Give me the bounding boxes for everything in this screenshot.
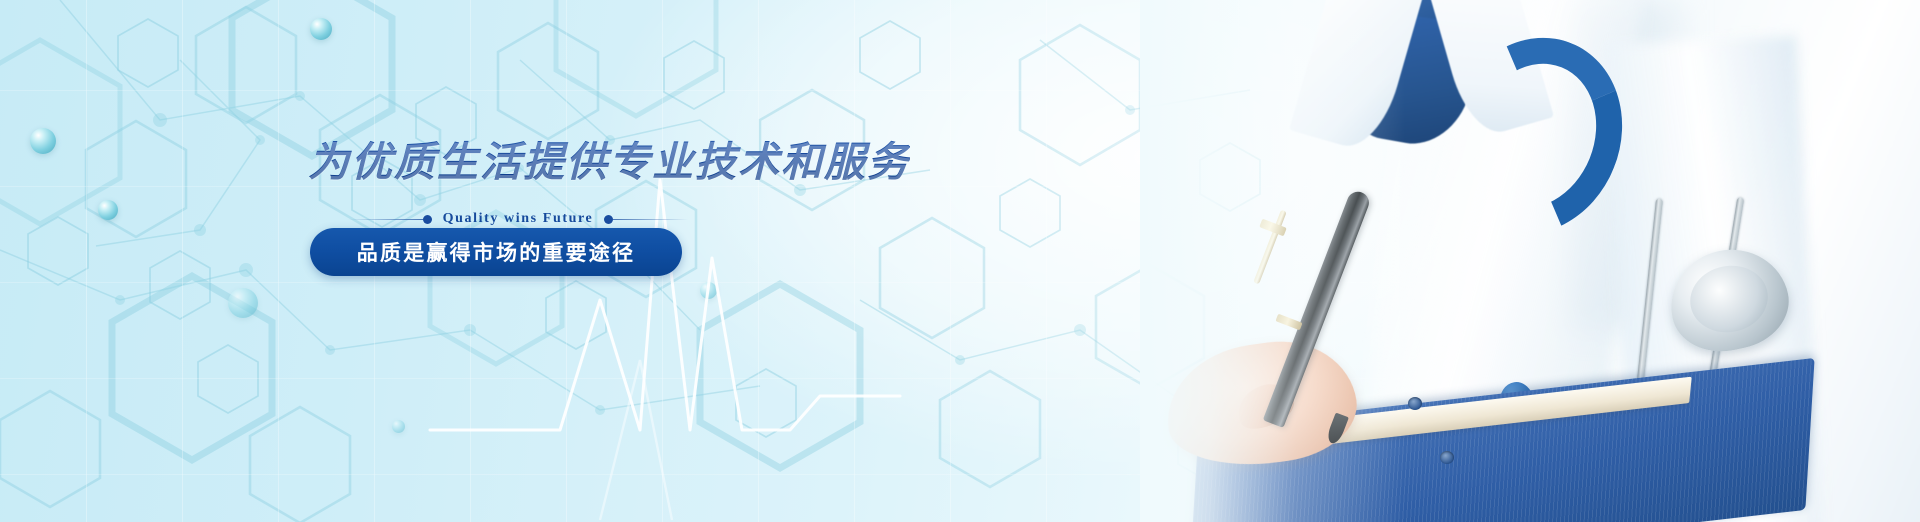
doctor-photo (1140, 0, 1920, 522)
subline-english-text: Quality wins Future (432, 211, 605, 227)
subline-rule-right (613, 219, 688, 220)
subline-dot-left (423, 215, 432, 224)
banner-headline: 为优质生活提供专业技术和服务 (308, 128, 910, 188)
photo-edge-fade (1140, 0, 1920, 522)
tagline-pill-label: 品质是赢得市场的重要途径 (357, 237, 635, 267)
subline-rule-left (348, 219, 423, 220)
hero-banner: 为优质生活提供专业技术和服务 Quality wins Future 品质是赢得… (0, 0, 1920, 522)
subline-dot-right (604, 215, 613, 224)
banner-text-block: 为优质生活提供专业技术和服务 Quality wins Future 品质是赢得… (0, 0, 920, 522)
tagline-pill[interactable]: 品质是赢得市场的重要途径 (310, 228, 682, 276)
